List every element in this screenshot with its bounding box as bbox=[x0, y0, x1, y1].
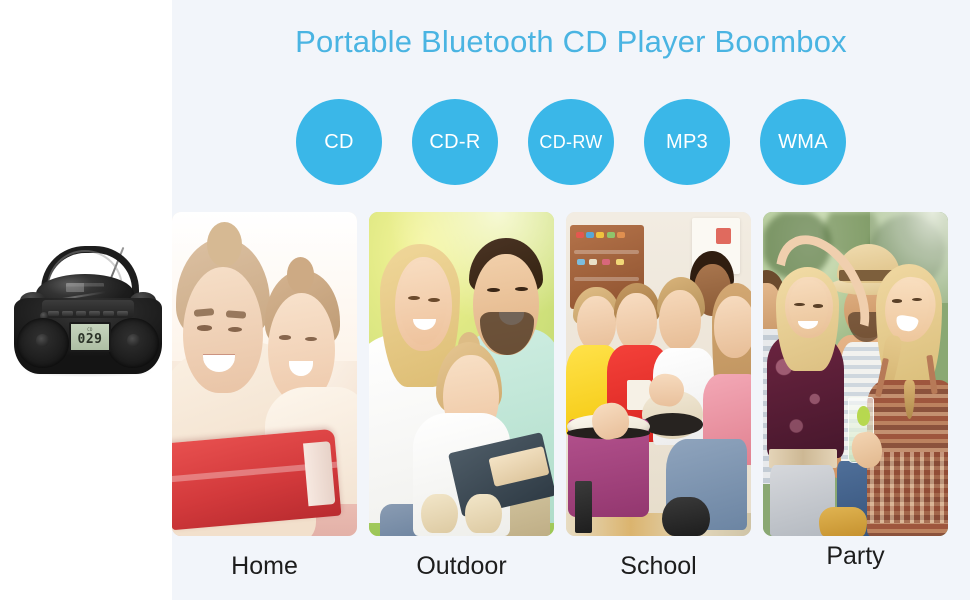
lcd-track-number: 029 bbox=[78, 333, 103, 346]
home-book-pages bbox=[303, 441, 336, 506]
boombox-button[interactable] bbox=[62, 311, 73, 316]
outdoor-father-eye-right bbox=[515, 287, 528, 291]
boombox-button-row[interactable] bbox=[48, 311, 128, 316]
school-child-pink-head bbox=[714, 296, 751, 358]
school-shelf-box bbox=[576, 232, 584, 238]
format-badge-label: CD-RW bbox=[539, 132, 602, 153]
boombox-lcd-display: CD 029 bbox=[69, 322, 111, 352]
boombox-button[interactable] bbox=[103, 311, 114, 316]
school-child-yellow-head bbox=[577, 296, 616, 351]
school-shelf-box bbox=[602, 259, 610, 265]
scene-label-home: Home bbox=[172, 536, 357, 592]
school-drum-small-rim bbox=[642, 413, 703, 436]
school-child-shoe bbox=[662, 497, 710, 536]
home-mother-bun bbox=[207, 222, 242, 267]
scene-image-school[interactable] bbox=[566, 212, 751, 536]
outdoor-child-shoe-left bbox=[421, 494, 458, 533]
boombox-button[interactable] bbox=[89, 311, 100, 316]
school-shelf-box bbox=[589, 259, 597, 265]
home-mother-eyebrow-right bbox=[225, 310, 246, 319]
format-badge-label: CD-R bbox=[429, 131, 480, 154]
school-shelf-box bbox=[607, 232, 615, 238]
home-mother-head bbox=[183, 267, 263, 393]
boombox-button[interactable] bbox=[76, 311, 87, 316]
home-mother-eye-left bbox=[197, 325, 212, 330]
format-badge-cd-r[interactable]: CD-R bbox=[412, 99, 498, 185]
scene-labels: Home Outdoor School Party bbox=[172, 536, 948, 592]
product-banner: Portable Bluetooth CD Player Boombox CD … bbox=[0, 0, 970, 600]
scene-image-home[interactable] bbox=[172, 212, 357, 536]
format-badge-cd[interactable]: CD bbox=[296, 99, 382, 185]
scene-image-party[interactable] bbox=[763, 212, 948, 536]
outdoor-child-shoe-right bbox=[465, 494, 502, 533]
scene-gallery bbox=[172, 212, 948, 536]
school-shelf-board bbox=[574, 250, 639, 254]
school-shelf-box bbox=[586, 232, 594, 238]
product-image-boombox[interactable]: CD 029 bbox=[14, 238, 162, 374]
party-food-tray bbox=[819, 507, 867, 536]
format-badge-wma[interactable]: WMA bbox=[760, 99, 846, 185]
boombox-button[interactable] bbox=[48, 311, 59, 316]
school-speaker-block bbox=[575, 481, 592, 533]
school-shelf-box bbox=[617, 232, 625, 238]
school-shelf-box bbox=[596, 232, 604, 238]
scene-image-outdoor[interactable] bbox=[369, 212, 554, 536]
format-badge-mp3[interactable]: MP3 bbox=[644, 99, 730, 185]
party-woman-eye-left bbox=[794, 303, 804, 306]
boombox-speaker-cone-left bbox=[36, 334, 49, 347]
scene-label-school: School bbox=[566, 536, 751, 592]
party-dress-chevron-pattern bbox=[870, 452, 948, 523]
boombox-button[interactable] bbox=[117, 311, 128, 316]
party-woman-eye-right bbox=[813, 304, 823, 307]
supported-formats-row: CD CD-R CD-RW MP3 WMA bbox=[172, 99, 970, 185]
format-badge-label: CD bbox=[324, 131, 354, 154]
school-shelf-box bbox=[577, 259, 585, 265]
page-title: Portable Bluetooth CD Player Boombox bbox=[172, 24, 970, 60]
party-woman2-eye-left bbox=[892, 299, 902, 302]
outdoor-mother-face bbox=[399, 261, 447, 345]
school-child-red-head bbox=[616, 293, 657, 351]
home-red-book bbox=[172, 428, 342, 530]
home-child-eye-left bbox=[279, 335, 291, 340]
school-shelf-box bbox=[616, 259, 624, 265]
scene-label-outdoor: Outdoor bbox=[369, 536, 554, 592]
boombox-speaker-cone-right bbox=[127, 334, 140, 347]
scene-label-party: Party bbox=[763, 536, 948, 592]
school-child-white-head bbox=[659, 290, 702, 352]
boombox-brand-mark bbox=[66, 283, 104, 292]
format-badge-label: WMA bbox=[778, 131, 828, 154]
format-badge-cd-rw[interactable]: CD-RW bbox=[528, 99, 614, 185]
format-badge-label: MP3 bbox=[666, 131, 708, 154]
school-shelf-board bbox=[574, 277, 639, 281]
school-poster-accent bbox=[716, 228, 731, 244]
